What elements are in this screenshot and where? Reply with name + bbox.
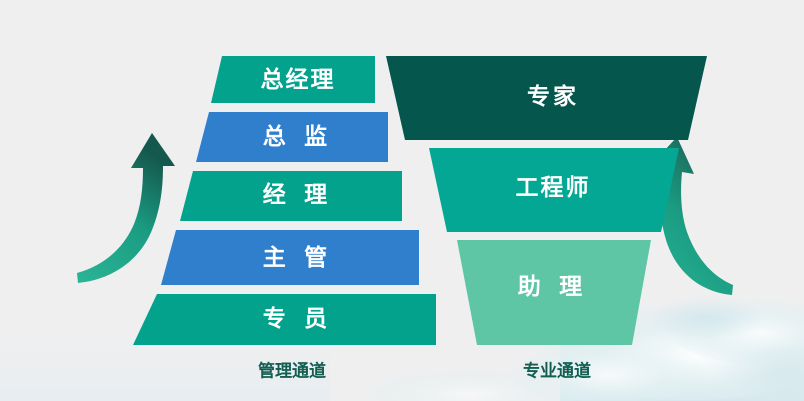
management-tier-3[interactable]: 经 理 <box>180 171 402 221</box>
management-tier-1[interactable]: 总经理 <box>211 56 375 103</box>
tier-label-manager: 经 理 <box>263 181 333 207</box>
tier-label-supervisor: 主 管 <box>263 244 333 270</box>
professional-tier-1[interactable]: 专家 <box>386 56 707 140</box>
tier-label-general-manager: 总经理 <box>261 66 336 92</box>
management-tier-5[interactable]: 专 员 <box>133 294 436 345</box>
tier-label-specialist: 专 员 <box>263 305 333 331</box>
management-tier-4[interactable]: 主 管 <box>161 230 419 285</box>
management-tier-2[interactable]: 总 监 <box>196 112 388 162</box>
career-ladder-infographic: 总经理 总 监 经 理 主 管 专 员 管理通道 <box>0 0 804 401</box>
tier-label-engineer: 工程师 <box>516 174 591 200</box>
management-track-caption: 管理通道 <box>258 360 326 380</box>
professional-tier-2[interactable]: 工程师 <box>429 148 679 232</box>
left-growth-arrow <box>77 133 175 283</box>
tier-label-expert: 专家 <box>527 83 579 109</box>
career-paths-diagram: 总经理 总 监 经 理 主 管 专 员 管理通道 <box>0 0 804 401</box>
tier-label-director: 总 监 <box>263 123 333 149</box>
professional-tier-3[interactable]: 助 理 <box>457 240 651 345</box>
tier-label-assistant: 助 理 <box>518 273 588 299</box>
management-track: 总经理 总 监 经 理 主 管 专 员 管理通道 <box>133 56 436 380</box>
professional-track-caption: 专业通道 <box>523 360 591 380</box>
